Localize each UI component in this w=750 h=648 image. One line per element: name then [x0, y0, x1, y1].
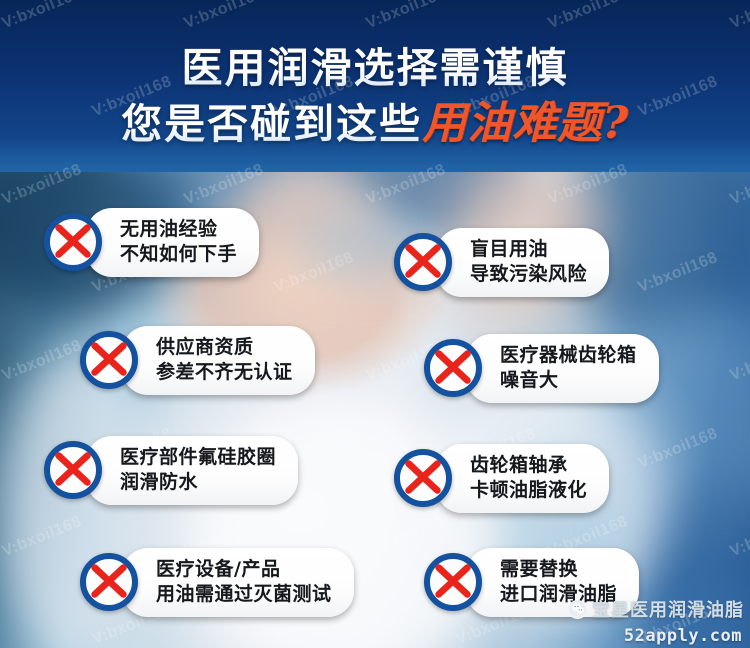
problem-card-text: 无用油经验 不知如何下手 — [86, 208, 259, 277]
red-cross-icon — [394, 233, 452, 291]
card-line-2: 不知如何下手 — [120, 242, 237, 267]
card-line-2: 参差不齐无认证 — [156, 360, 293, 385]
card-line-2: 用油需通过灭菌测试 — [156, 582, 332, 607]
title-line-1: 医用润滑选择需谨慎 — [0, 44, 750, 92]
card-line-1: 盲目用油 — [470, 237, 587, 262]
red-cross-glyph — [86, 337, 132, 383]
problem-card[interactable]: 医疗器械齿轮箱 噪音大 — [424, 334, 659, 403]
problem-card[interactable]: 无用油经验 不知如何下手 — [44, 208, 259, 277]
red-cross-icon — [80, 331, 138, 389]
card-line-1: 齿轮箱轴承 — [470, 453, 587, 478]
poster-root: 医用润滑选择需谨慎 您是否碰到这些用油难题? V:bxoil168V:bxoil… — [0, 0, 750, 648]
card-line-1: 供应商资质 — [156, 335, 293, 360]
card-line-1: 医疗设备/产品 — [156, 557, 332, 582]
problem-card-text: 齿轮箱轴承 卡顿油脂液化 — [436, 444, 609, 513]
red-cross-glyph — [86, 559, 132, 605]
problem-card-text: 医疗器械齿轮箱 噪音大 — [466, 334, 659, 403]
card-line-2: 卡顿油脂液化 — [470, 478, 587, 503]
red-cross-glyph — [430, 345, 476, 391]
wechat-glyph — [571, 602, 585, 616]
red-cross-glyph — [400, 239, 446, 285]
brand-name: 宝星医用润滑油脂 — [592, 596, 744, 622]
problem-card-text: 医疗设备/产品 用油需通过灭菌测试 — [122, 548, 354, 617]
page-title: 医用润滑选择需谨慎 您是否碰到这些用油难题? — [0, 44, 750, 150]
problem-card[interactable]: 齿轮箱轴承 卡顿油脂液化 — [394, 444, 609, 513]
wechat-icon — [568, 600, 587, 619]
problem-card[interactable]: 供应商资质 参差不齐无认证 — [80, 326, 315, 395]
red-cross-icon — [44, 213, 102, 271]
card-line-2: 噪音大 — [500, 368, 637, 393]
red-cross-glyph — [430, 559, 476, 605]
card-line-2: 润滑防水 — [120, 470, 276, 495]
red-cross-icon — [80, 553, 138, 611]
red-cross-glyph — [50, 447, 96, 493]
problem-card-text: 医疗部件氟硅胶圈 润滑防水 — [86, 436, 298, 505]
card-line-1: 需要替换 — [500, 557, 617, 582]
title-line-2: 您是否碰到这些用油难题? — [0, 98, 750, 150]
title-line-2-highlight: 用油难题? — [422, 98, 629, 149]
red-cross-icon — [44, 441, 102, 499]
red-cross-glyph — [400, 455, 446, 501]
problem-card-text: 盲目用油 导致污染风险 — [436, 228, 609, 297]
card-line-1: 医疗部件氟硅胶圈 — [120, 445, 276, 470]
problem-card[interactable]: 医疗设备/产品 用油需通过灭菌测试 — [80, 548, 354, 617]
card-line-1: 医疗器械齿轮箱 — [500, 343, 637, 368]
red-cross-icon — [394, 449, 452, 507]
red-cross-glyph — [50, 219, 96, 265]
site-url: 52apply.com — [624, 626, 742, 646]
card-line-1: 无用油经验 — [120, 217, 237, 242]
problem-card-text: 供应商资质 参差不齐无认证 — [122, 326, 315, 395]
red-cross-icon — [424, 553, 482, 611]
brand-watermark: 宝星医用润滑油脂 — [568, 596, 744, 622]
problem-card[interactable]: 盲目用油 导致污染风险 — [394, 228, 609, 297]
card-line-2: 导致污染风险 — [470, 262, 587, 287]
red-cross-icon — [424, 339, 482, 397]
title-line-2-plain: 您是否碰到这些 — [121, 100, 422, 148]
problem-card[interactable]: 医疗部件氟硅胶圈 润滑防水 — [44, 436, 298, 505]
